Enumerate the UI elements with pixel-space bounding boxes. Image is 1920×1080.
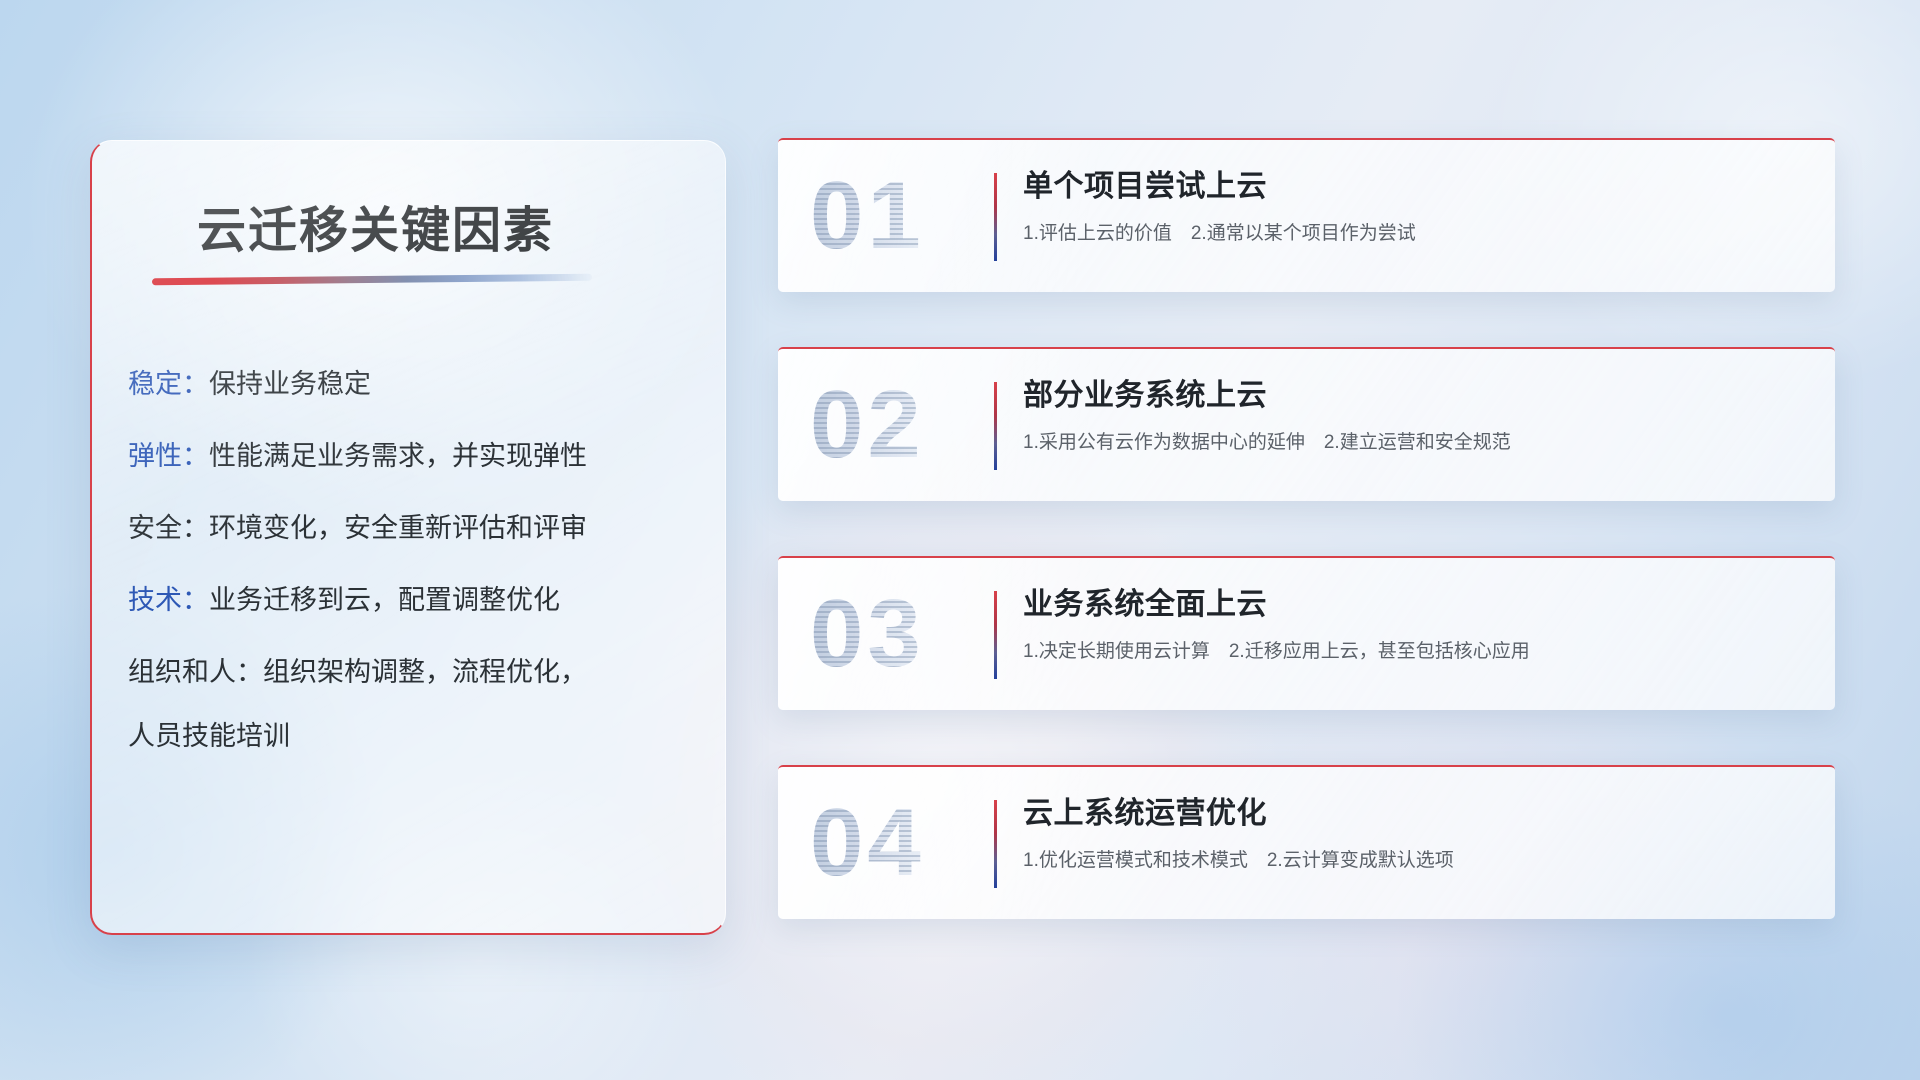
key-factor-label: 稳定： (128, 369, 209, 399)
key-factor-text: 性能满足业务需求，并实现弹性 (209, 441, 587, 471)
stage-accent-bar (994, 591, 997, 679)
stage-number-watermark: 01 (810, 168, 925, 264)
key-factor-label: 安全： (128, 513, 209, 543)
slide-stage: 云迁移关键因素 稳定：保持业务稳定弹性：性能满足业务需求，并实现弹性安全：环境变… (0, 0, 1920, 1080)
stage-card-body: 云上系统运营优化1.优化运营模式和技术模式 2.云计算变成默认选项 (1023, 795, 1811, 873)
stage-accent-bar (994, 382, 997, 470)
key-factor-text: 保持业务稳定 (209, 369, 371, 399)
key-factor-text: 人员技能培训 (128, 721, 290, 751)
key-factor-text: 业务迁移到云，配置调整优化 (209, 585, 560, 615)
stage-description: 1.评估上云的价值 2.通常以某个项目作为尝试 (1023, 222, 1811, 247)
stage-title: 部分业务系统上云 (1023, 377, 1811, 415)
key-factor-text: 组织架构调整，流程优化， (263, 657, 587, 687)
stage-card-body: 部分业务系统上云1.采用公有云作为数据中心的延伸 2.建立运营和安全规范 (1023, 377, 1811, 455)
key-factor-label: 组织和人： (128, 657, 263, 687)
key-factor-label: 弹性： (128, 441, 209, 471)
panel-title: 云迁移关键因素 (197, 191, 554, 262)
stage-card[interactable]: 0404云上系统运营优化1.优化运营模式和技术模式 2.云计算变成默认选项 (778, 765, 1835, 919)
key-factor-row: 人员技能培训 (128, 723, 703, 750)
key-factor-row: 弹性：性能满足业务需求，并实现弹性 (128, 443, 703, 470)
key-factor-row: 技术：业务迁移到云，配置调整优化 (128, 587, 703, 614)
stage-title: 业务系统全面上云 (1023, 586, 1811, 624)
key-factors-list: 稳定：保持业务稳定弹性：性能满足业务需求，并实现弹性安全：环境变化，安全重新评估… (128, 371, 703, 750)
stage-title: 单个项目尝试上云 (1023, 168, 1811, 206)
stage-card-body: 业务系统全面上云1.决定长期使用云计算 2.迁移应用上云，甚至包括核心应用 (1023, 586, 1811, 664)
stage-card[interactable]: 0303业务系统全面上云1.决定长期使用云计算 2.迁移应用上云，甚至包括核心应… (778, 556, 1835, 710)
key-factors-panel: 云迁移关键因素 稳定：保持业务稳定弹性：性能满足业务需求，并实现弹性安全：环境变… (90, 140, 726, 935)
stage-number-watermark: 02 (810, 377, 925, 473)
key-factor-row: 组织和人：组织架构调整，流程优化， (128, 659, 703, 686)
stage-number-watermark: 03 (810, 586, 925, 682)
key-factor-row: 稳定：保持业务稳定 (128, 371, 703, 398)
key-factor-text: 环境变化，安全重新评估和评审 (209, 513, 587, 543)
title-underline-gradient (152, 274, 592, 286)
stage-accent-bar (994, 173, 997, 261)
stage-description: 1.优化运营模式和技术模式 2.云计算变成默认选项 (1023, 849, 1811, 874)
stage-number-watermark: 04 (810, 795, 925, 891)
stage-description: 1.采用公有云作为数据中心的延伸 2.建立运营和安全规范 (1023, 431, 1811, 456)
stage-card-list: 0101单个项目尝试上云1.评估上云的价值 2.通常以某个项目作为尝试0202部… (778, 138, 1835, 919)
key-factor-row: 安全：环境变化，安全重新评估和评审 (128, 515, 703, 542)
stage-description: 1.决定长期使用云计算 2.迁移应用上云，甚至包括核心应用 (1023, 640, 1811, 665)
stage-card-body: 单个项目尝试上云1.评估上云的价值 2.通常以某个项目作为尝试 (1023, 168, 1811, 246)
stage-card[interactable]: 0202部分业务系统上云1.采用公有云作为数据中心的延伸 2.建立运营和安全规范 (778, 347, 1835, 501)
key-factor-label: 技术： (128, 585, 209, 615)
stage-card[interactable]: 0101单个项目尝试上云1.评估上云的价值 2.通常以某个项目作为尝试 (778, 138, 1835, 292)
stage-title: 云上系统运营优化 (1023, 795, 1811, 833)
stage-accent-bar (994, 800, 997, 888)
